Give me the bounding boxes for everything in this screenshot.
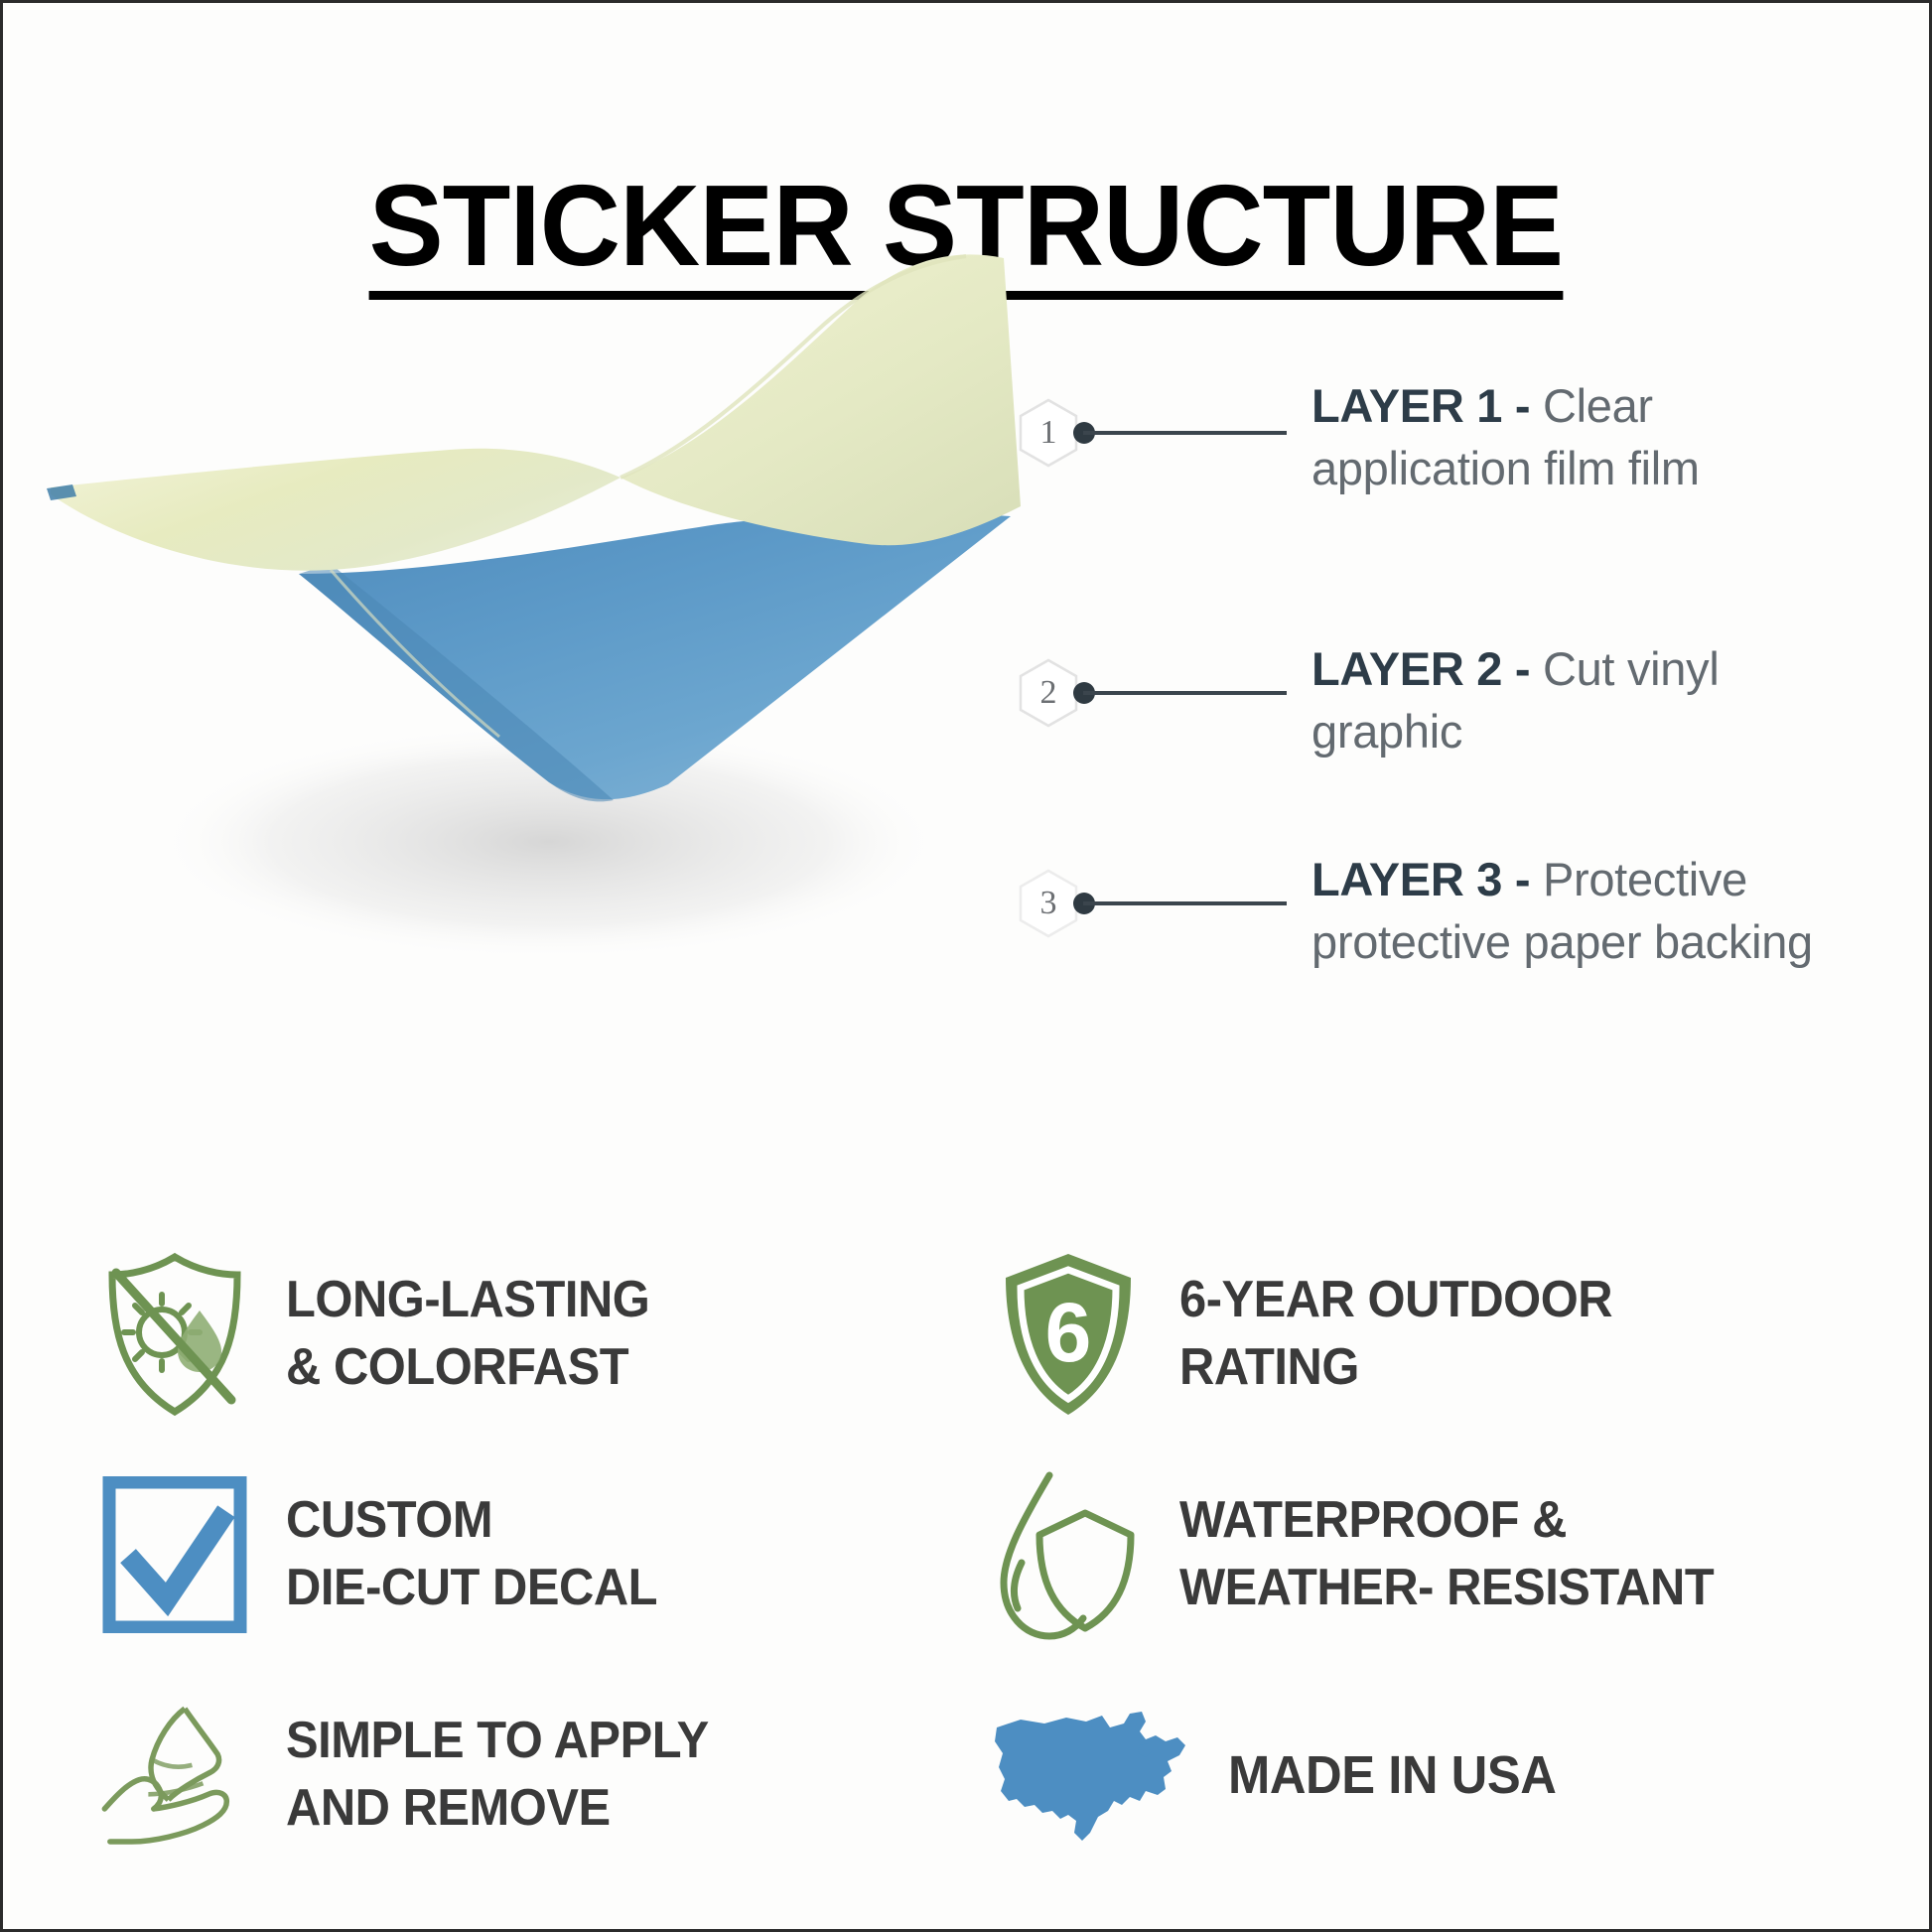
application-film-curl [621, 254, 1021, 545]
feature-grid: LONG-LASTING & COLORFAST 6 6-YEAR OUTDOO… [97, 1224, 1884, 1885]
feature-long-lasting: LONG-LASTING & COLORFAST [97, 1224, 991, 1445]
shield-six-icon: 6 [991, 1250, 1146, 1419]
svg-text:6: 6 [1045, 1286, 1092, 1379]
feature-made-in-usa-label: MADE IN USA [1228, 1740, 1556, 1810]
water-drop-shield-icon [991, 1470, 1146, 1639]
feature-outdoor-rating: 6 6-YEAR OUTDOOR RATING [991, 1224, 1884, 1445]
callout-3-text: LAYER 3 - Protective protective paper ba… [1311, 849, 1867, 973]
feature-made-in-usa: MADE IN USA [991, 1665, 1884, 1885]
feature-waterproof: WATERPROOF & WEATHER- RESISTANT [991, 1445, 1884, 1665]
feature-simple-apply: SIMPLE TO APPLY AND REMOVE [97, 1665, 991, 1885]
leader-line-1 [1083, 431, 1287, 435]
callout-1-text: LAYER 1 - Clear application film film [1311, 375, 1867, 499]
feature-simple-apply-label: SIMPLE TO APPLY AND REMOVE [286, 1708, 709, 1842]
feature-die-cut: CUSTOM DIE-CUT DECAL [97, 1445, 991, 1665]
infographic-page: STICKER STRUCTURE [0, 0, 1932, 1932]
hand-holding-sticker-icon [97, 1691, 252, 1860]
shield-no-sun-water-icon [97, 1250, 252, 1419]
callout-2-label: LAYER 2 - [1311, 642, 1530, 695]
application-film-flat [51, 449, 621, 571]
feature-die-cut-label: CUSTOM DIE-CUT DECAL [286, 1487, 657, 1621]
hex-marker-3: 3 [1018, 869, 1079, 938]
hex-marker-3-label: 3 [1018, 869, 1079, 938]
hex-marker-1-label: 1 [1018, 398, 1079, 468]
sticker-layers-illustration [33, 246, 1055, 961]
leader-line-2 [1083, 691, 1287, 695]
feature-outdoor-rating-label: 6-YEAR OUTDOOR RATING [1179, 1267, 1612, 1401]
hex-marker-1: 1 [1018, 398, 1079, 468]
hex-marker-2: 2 [1018, 658, 1079, 728]
feature-waterproof-label: WATERPROOF & WEATHER- RESISTANT [1179, 1487, 1714, 1621]
feature-long-lasting-label: LONG-LASTING & COLORFAST [286, 1267, 649, 1401]
callout-2-text: LAYER 2 - Cut vinyl graphic [1311, 638, 1867, 762]
usa-map-icon [991, 1691, 1194, 1860]
hex-marker-2-label: 2 [1018, 658, 1079, 728]
checkbox-checked-icon [97, 1470, 252, 1639]
callout-3-label: LAYER 3 - [1311, 853, 1530, 905]
callout-1-label: LAYER 1 - [1311, 379, 1530, 432]
leader-line-3 [1083, 901, 1287, 905]
